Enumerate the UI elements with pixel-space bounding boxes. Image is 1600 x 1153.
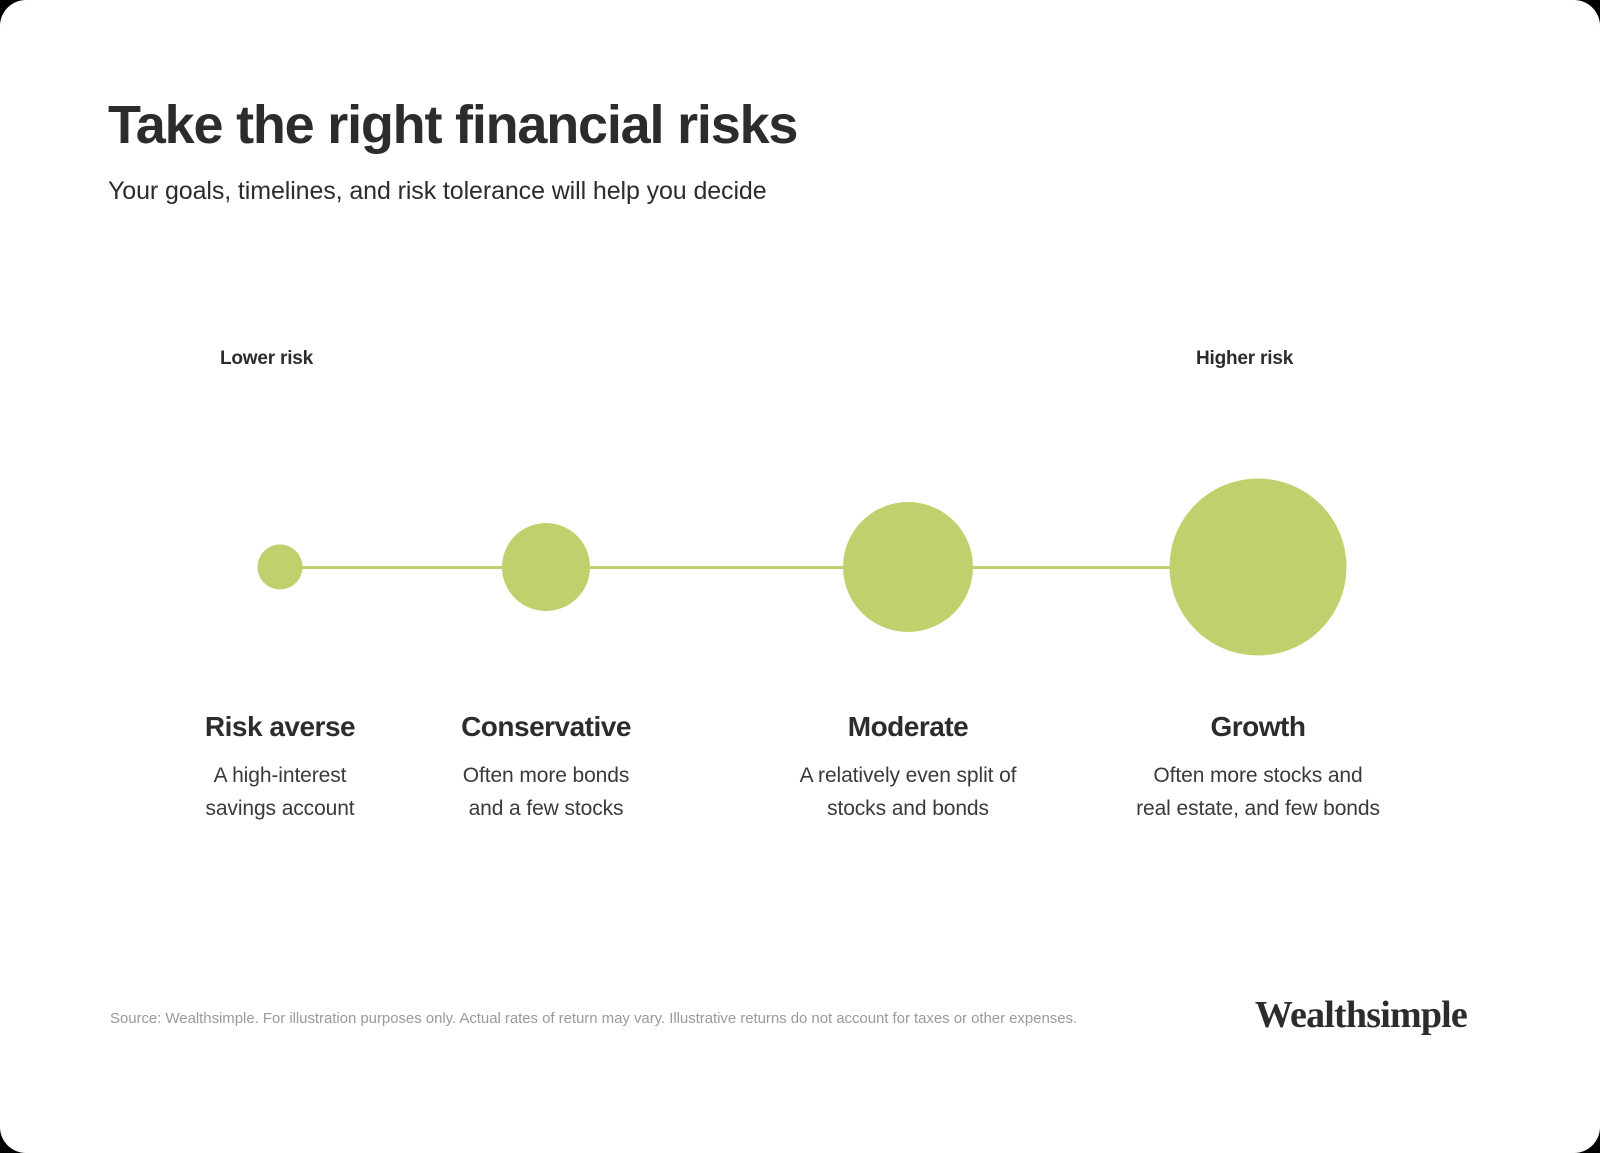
lower-risk-label: Lower risk: [220, 348, 313, 370]
risk-category-moderate: Moderate A relatively even split of stoc…: [800, 712, 1017, 826]
category-description: A relatively even split of stocks and bo…: [800, 759, 1017, 826]
risk-category-growth: Growth Often more stocks and real estate…: [1136, 712, 1380, 826]
risk-category-risk-averse: Risk averse A high-interest savings acco…: [205, 712, 355, 826]
category-description: Often more stocks and real estate, and f…: [1136, 759, 1380, 826]
higher-risk-label: Higher risk: [1196, 348, 1293, 370]
source-note: Source: Wealthsimple. For illustration p…: [110, 1010, 1077, 1027]
risk-node-moderate: [843, 502, 973, 632]
risk-node-conservative: [502, 523, 590, 611]
infographic-card: Take the right financial risks Your goal…: [0, 0, 1600, 1153]
header: Take the right financial risks Your goal…: [108, 96, 1408, 206]
category-name: Moderate: [800, 712, 1017, 743]
category-description: Often more bonds and a few stocks: [461, 759, 631, 826]
wealthsimple-logo: Wealthsimple: [1255, 993, 1467, 1037]
risk-node-growth: [1170, 479, 1347, 656]
page-subtitle: Your goals, timelines, and risk toleranc…: [108, 176, 1408, 206]
category-name: Conservative: [461, 712, 631, 743]
page-title: Take the right financial risks: [108, 96, 1408, 154]
risk-node-risk-averse: [258, 545, 303, 590]
scale-connector-line: [268, 566, 1259, 569]
category-name: Risk averse: [205, 712, 355, 743]
category-description: A high-interest savings account: [205, 759, 355, 826]
category-name: Growth: [1136, 712, 1380, 743]
risk-axis-labels: Lower risk Higher risk: [0, 348, 1600, 378]
risk-category-conservative: Conservative Often more bonds and a few …: [461, 712, 631, 826]
